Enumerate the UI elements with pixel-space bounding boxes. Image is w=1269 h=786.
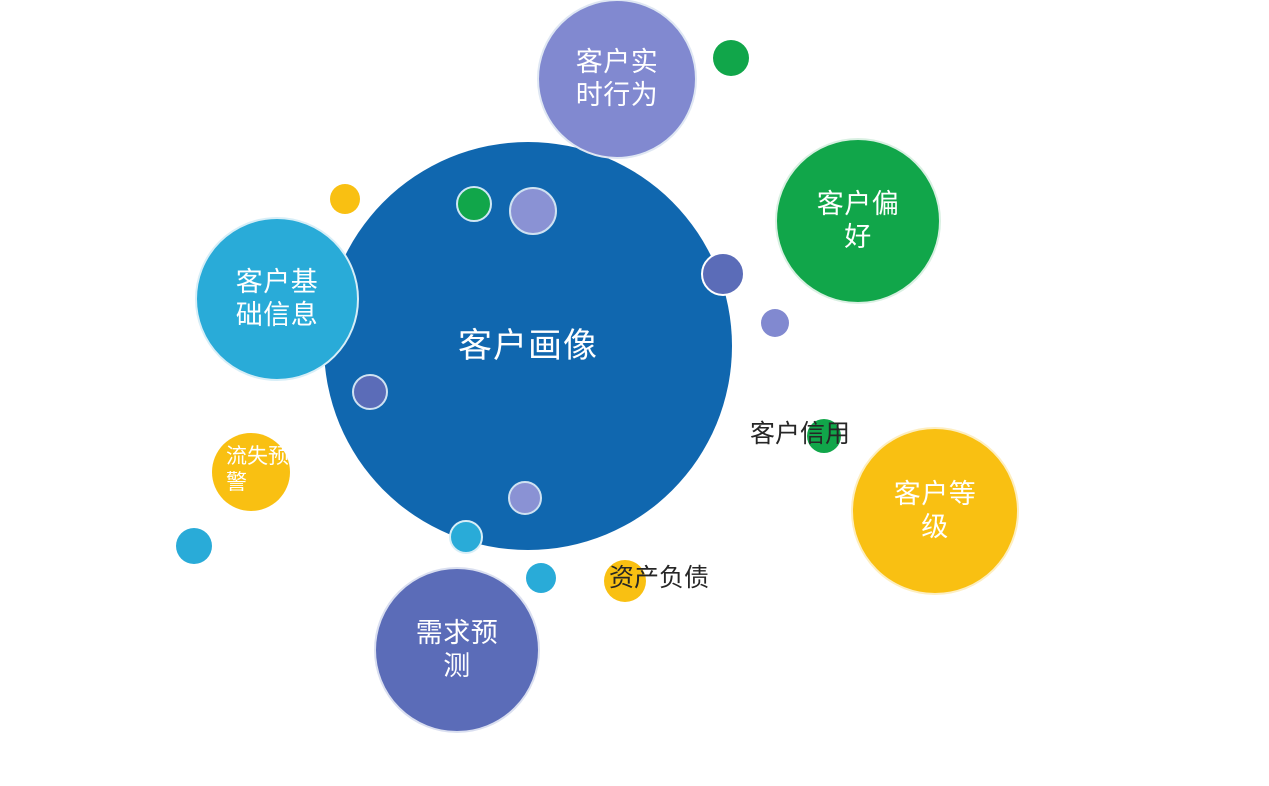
decor-yellow-upper-left-bubble[interactable] [330,184,360,214]
decor-cyan-lower-mid-bubble[interactable] [526,563,556,593]
assets-liabilities-label: 资产负债 [609,563,709,593]
preference-label: 客户偏 好 [817,188,900,254]
core-bubble-label: 客户画像 [458,326,598,367]
basic-info-label: 客户基 础信息 [236,266,319,332]
decor-cyan-bottom-edge-bubble[interactable] [449,520,483,554]
decor-slate-right-edge-bubble[interactable] [701,252,745,296]
basic-info-bubble[interactable]: 客户基 础信息 [195,217,359,381]
diagram-canvas: 客户画像 客户实 时行为客户基 础信息客户偏 好客户等 级需求预 测 流失预 警… [0,0,1269,786]
decor-periwinkle-inner-top-bubble[interactable] [509,187,557,235]
preference-bubble[interactable]: 客户偏 好 [775,138,941,304]
customer-credit-label: 客户信用 [750,419,850,449]
demand-forecast-bubble[interactable]: 需求预 测 [374,567,540,733]
decor-green-inner-bubble[interactable] [456,186,492,222]
churn-warning-label: 流失预 警 [226,444,289,497]
decor-periwinkle-right-bubble[interactable] [761,309,789,337]
decor-slate-inner-left-bubble[interactable] [352,374,388,410]
realtime-behavior-bubble[interactable]: 客户实 时行为 [537,0,697,159]
customer-level-bubble[interactable]: 客户等 级 [851,427,1019,595]
decor-periwinkle-inner-bottom-bubble[interactable] [508,481,542,515]
realtime-behavior-label: 客户实 时行为 [576,46,659,112]
decor-green-top-right-bubble[interactable] [713,40,749,76]
customer-level-label: 客户等 级 [894,478,977,544]
demand-forecast-label: 需求预 测 [416,617,499,683]
decor-cyan-lower-left-bubble[interactable] [176,528,212,564]
